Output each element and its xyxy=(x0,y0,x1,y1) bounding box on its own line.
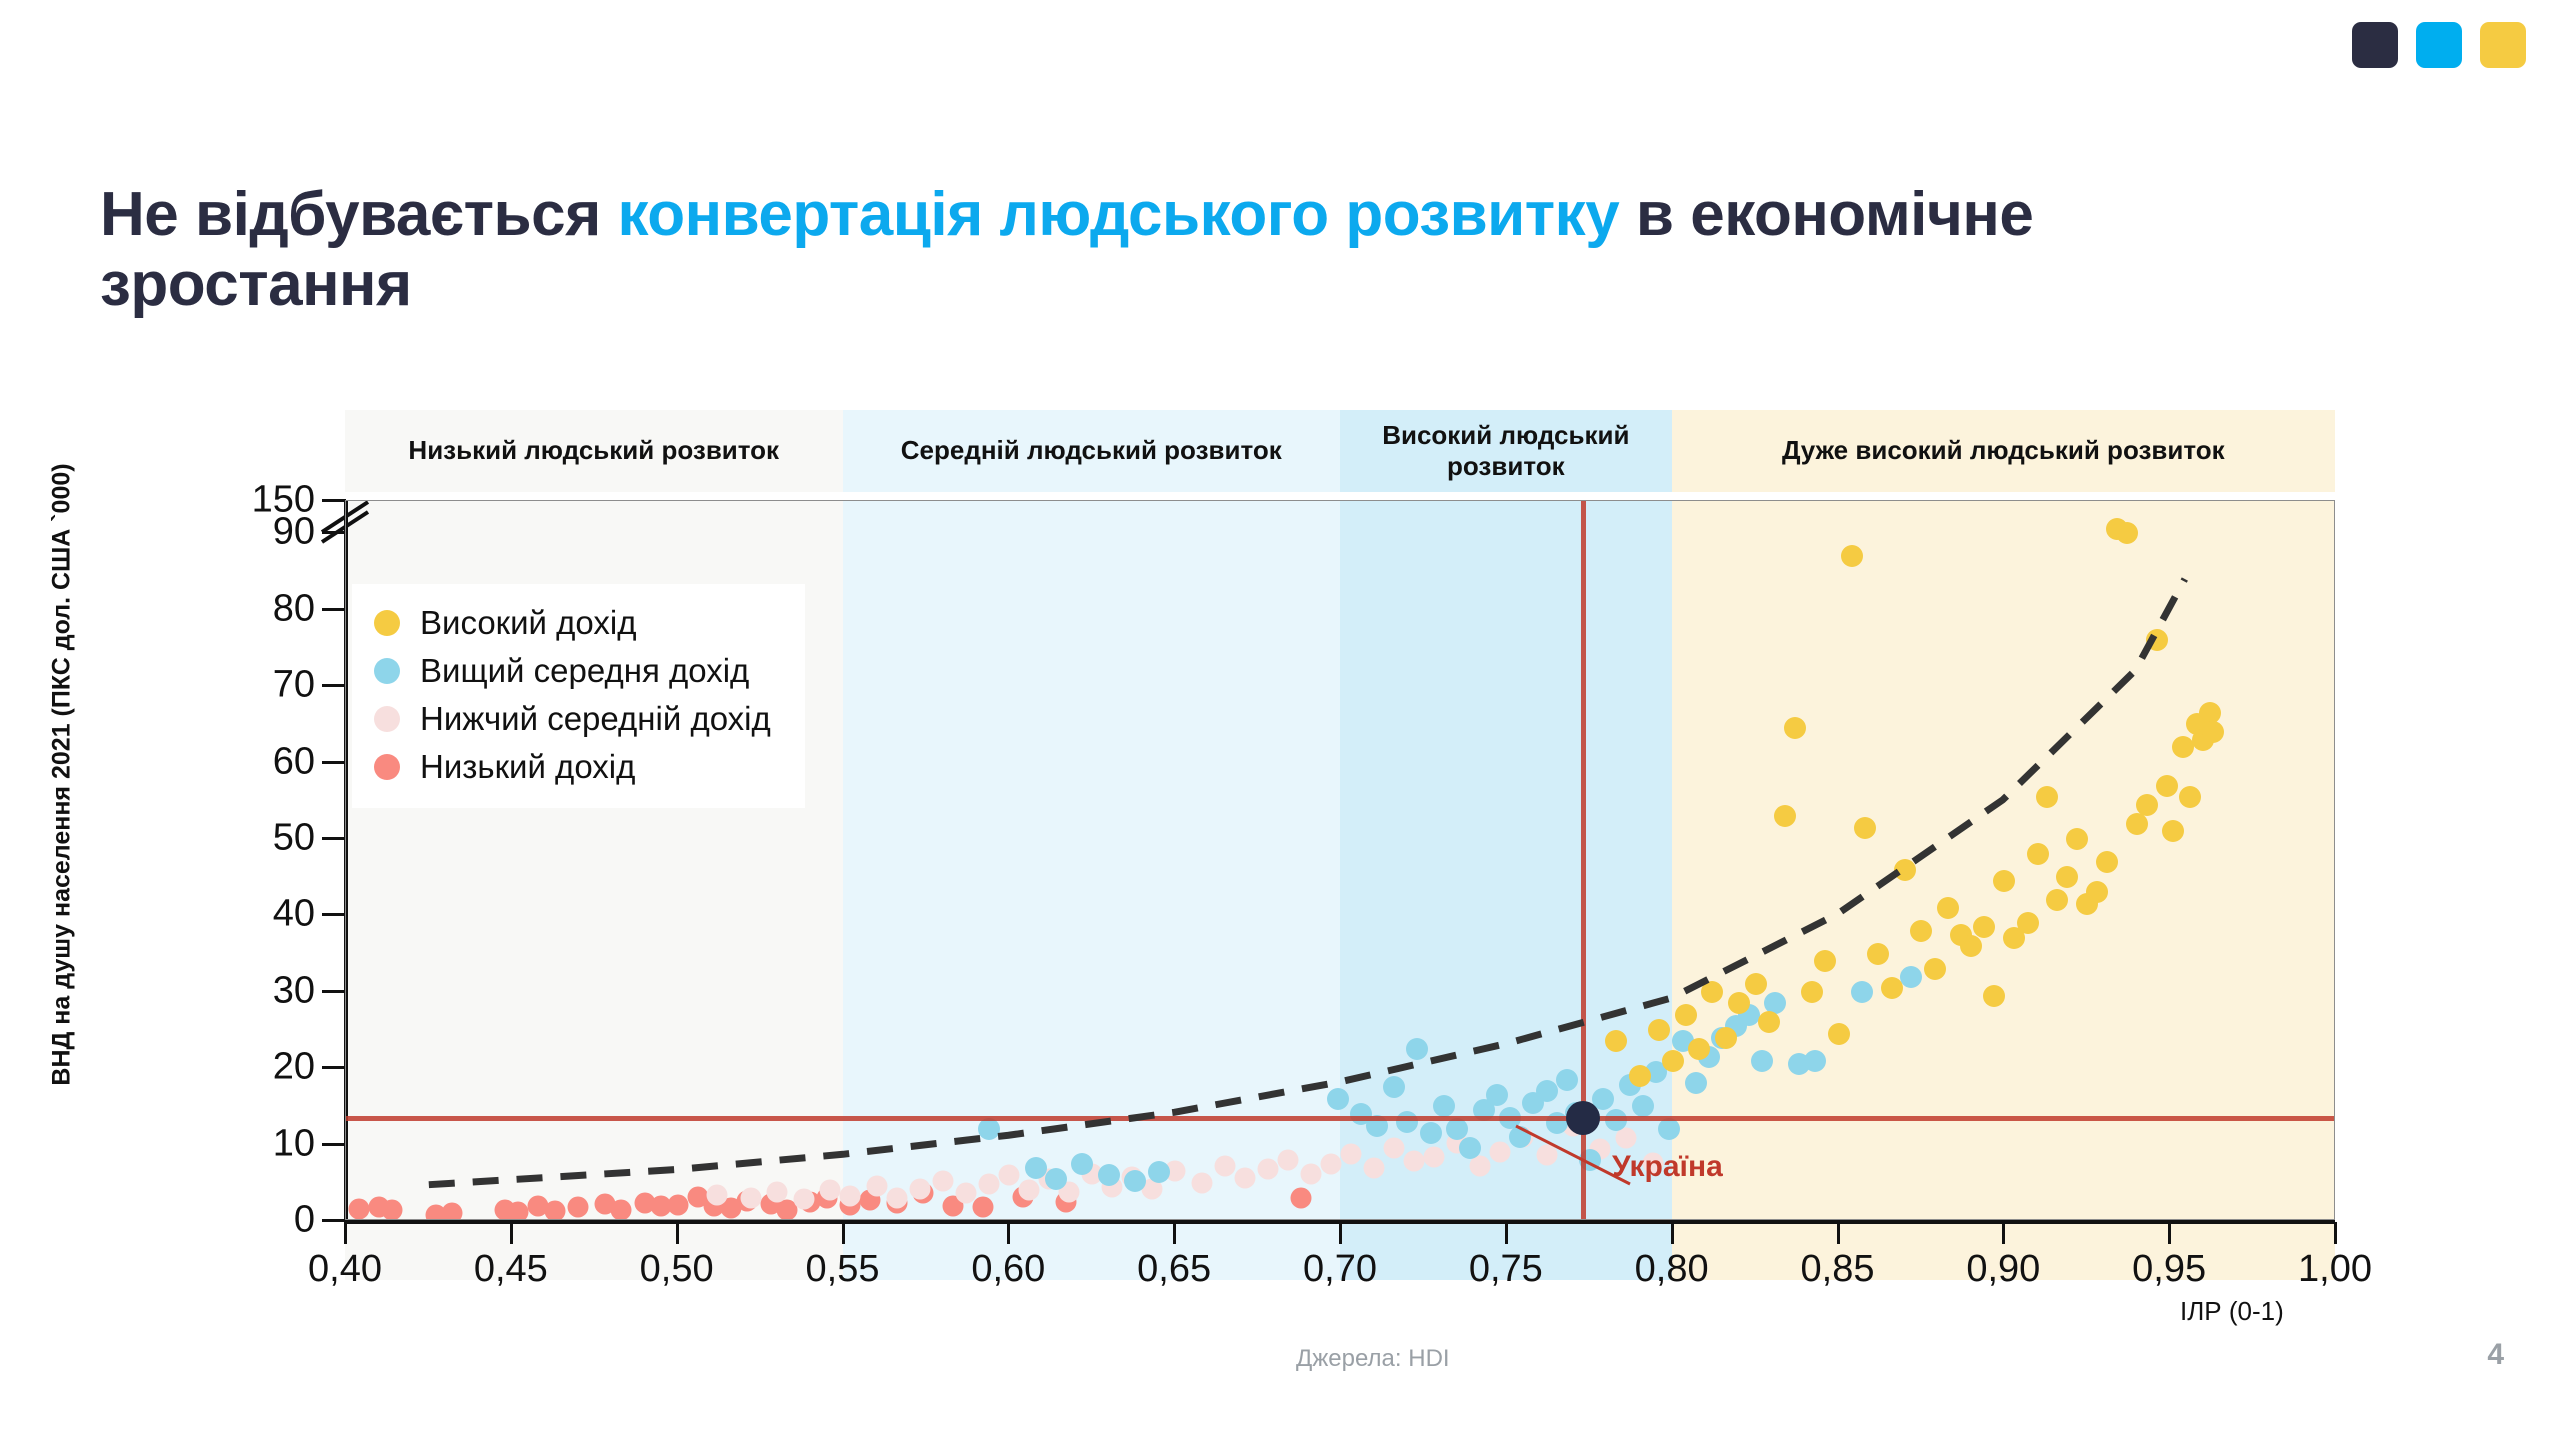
x-tick-label: 0,90 xyxy=(1923,1248,2083,1291)
y-tick-label: 70 xyxy=(195,664,315,707)
y-tick xyxy=(322,1143,346,1146)
band-header-3: Високий людський розвиток xyxy=(1340,410,1672,492)
band-header-label: Середній людський розвиток xyxy=(901,435,1282,466)
y-tick xyxy=(322,990,346,993)
legend-swatch-icon xyxy=(374,610,400,636)
y-tick-label: 10 xyxy=(195,1122,315,1165)
x-tick xyxy=(1671,1222,1674,1244)
ukraine-annotation-label: Україна xyxy=(1612,1150,1723,1184)
x-tick xyxy=(1505,1222,1508,1244)
y-tick-label: 90 xyxy=(195,511,315,554)
y-tick-label: 40 xyxy=(195,893,315,936)
x-tick xyxy=(1173,1222,1176,1244)
y-tick-label: 20 xyxy=(195,1046,315,1089)
scatter-chart: Низький людський розвитокСередній людськ… xyxy=(0,0,2560,1440)
y-axis-title: ВНД на душу населення 2021 (ПКС дол. США… xyxy=(48,395,77,1155)
legend-item-1[interactable]: Високий дохід xyxy=(374,604,771,642)
x-tick-label: 0,40 xyxy=(265,1248,425,1291)
y-tick xyxy=(322,684,346,687)
x-tick xyxy=(2002,1222,2005,1244)
band-header-2: Середній людський розвиток xyxy=(843,410,1341,492)
y-tick-label: 80 xyxy=(195,587,315,630)
x-tick-label: 0,70 xyxy=(1260,1248,1420,1291)
legend-item-3[interactable]: Нижчий середній дохід xyxy=(374,700,771,738)
y-tick-label: 0 xyxy=(195,1199,315,1242)
x-tick xyxy=(1339,1222,1342,1244)
band-header-label: Дуже високий людський розвиток xyxy=(1782,435,2225,466)
legend-swatch-icon xyxy=(374,706,400,732)
band-header-1: Низький людський розвиток xyxy=(345,410,843,492)
y-tick-label: 30 xyxy=(195,969,315,1012)
x-tick-label: 0,80 xyxy=(1592,1248,1752,1291)
y-tick xyxy=(322,761,346,764)
y-tick xyxy=(322,608,346,611)
x-tick xyxy=(344,1222,347,1244)
band-header-4: Дуже високий людський розвиток xyxy=(1672,410,2335,492)
x-tick xyxy=(1007,1222,1010,1244)
band-header-label: Високий людський розвиток xyxy=(1348,420,1664,482)
chart-legend: Високий дохідВищий середня дохідНижчий с… xyxy=(352,584,805,808)
source-note: Джерела: HDI xyxy=(1296,1345,1450,1373)
legend-item-label: Вищий середня дохід xyxy=(420,652,749,690)
x-tick-label: 0,75 xyxy=(1426,1248,1586,1291)
y-tick-label: 50 xyxy=(195,817,315,860)
x-tick-label: 0,60 xyxy=(928,1248,1088,1291)
x-tick-label: 0,45 xyxy=(431,1248,591,1291)
y-tick xyxy=(322,1066,346,1069)
y-tick xyxy=(322,837,346,840)
y-tick xyxy=(322,1219,346,1222)
legend-swatch-icon xyxy=(374,754,400,780)
x-tick-label: 1,00 xyxy=(2255,1248,2415,1291)
legend-item-label: Високий дохід xyxy=(420,604,636,642)
band-header-label: Низький людський розвиток xyxy=(408,435,779,466)
x-tick xyxy=(510,1222,513,1244)
x-tick xyxy=(1837,1222,1840,1244)
x-tick-label: 0,95 xyxy=(2089,1248,2249,1291)
y-tick xyxy=(322,913,346,916)
x-tick xyxy=(676,1222,679,1244)
x-axis-title: ІЛР (0-1) xyxy=(2180,1296,2284,1327)
x-tick xyxy=(842,1222,845,1244)
x-tick-label: 0,65 xyxy=(1094,1248,1254,1291)
x-tick-label: 0,55 xyxy=(763,1248,923,1291)
legend-item-label: Нижчий середній дохід xyxy=(420,700,771,738)
x-tick-label: 0,50 xyxy=(597,1248,757,1291)
legend-item-2[interactable]: Вищий середня дохід xyxy=(374,652,771,690)
x-tick-label: 0,85 xyxy=(1758,1248,1918,1291)
legend-item-4[interactable]: Низький дохід xyxy=(374,748,771,786)
y-tick-label: 60 xyxy=(195,740,315,783)
x-tick xyxy=(2334,1222,2337,1244)
x-tick xyxy=(2168,1222,2171,1244)
legend-swatch-icon xyxy=(374,658,400,684)
page-number: 4 xyxy=(2487,1338,2504,1372)
legend-item-label: Низький дохід xyxy=(420,748,635,786)
